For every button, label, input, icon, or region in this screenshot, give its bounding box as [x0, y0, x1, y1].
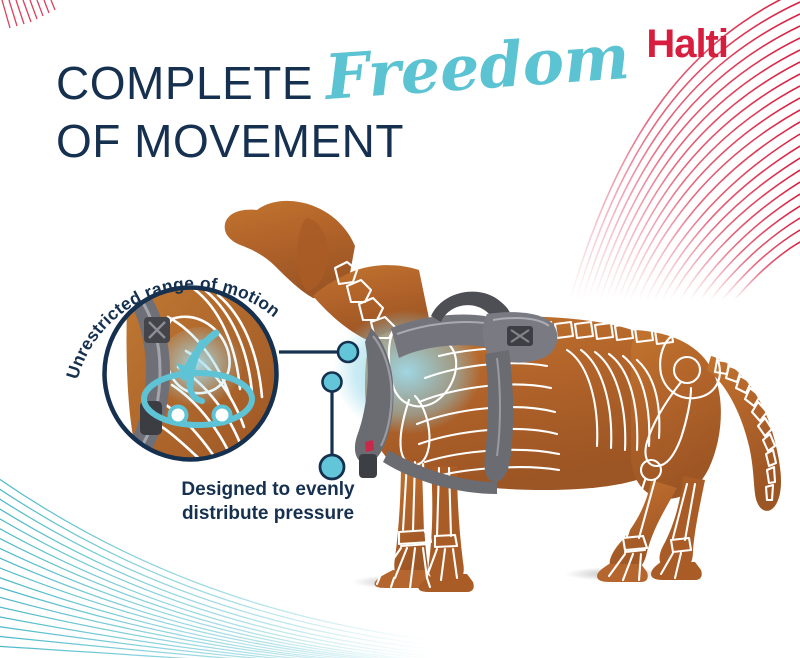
headline-line-1: COMPLETE Freedom: [56, 52, 576, 109]
halti-logo: Halti: [646, 24, 728, 64]
dog-skeleton-graphic: [195, 150, 795, 620]
headline-freedom-script: Freedom: [323, 31, 631, 104]
magnifier-detail-circle: [98, 281, 283, 466]
caption-line-2: distribute pressure: [170, 502, 366, 526]
magnifier-content: [98, 281, 283, 466]
pressure-caption: Designed to evenly distribute pressure: [170, 478, 366, 526]
caption-line-1: Designed to evenly: [170, 478, 366, 502]
dog-illustration: [195, 150, 795, 620]
poster-canvas: Halti COMPLETE Freedom OF MOVEMENT: [0, 0, 800, 658]
headline-complete: COMPLETE: [56, 57, 313, 109]
red-ticks-decoration: [0, 0, 90, 60]
magnifier-graphic: [98, 281, 283, 466]
